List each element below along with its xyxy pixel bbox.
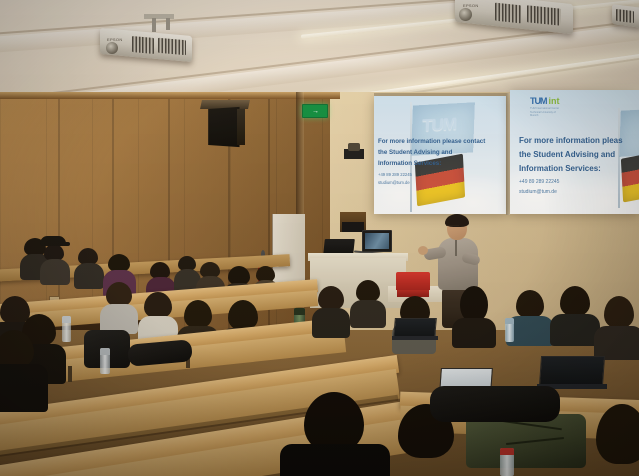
slide-line-3: Information Services: [519, 164, 623, 173]
projection-screen-right: TUM int TUM International Center Technic… [510, 90, 639, 214]
int-logo-text: int [549, 97, 560, 106]
wall-shelf [340, 212, 366, 232]
slide-phone: +49 89 289 22245 [519, 179, 623, 185]
lectern-monitor [362, 230, 392, 252]
screen-frame-left [374, 93, 506, 96]
slide-contact-text-left: For more information please contact the … [378, 138, 485, 185]
slide-email: studium@tum.de [378, 180, 485, 185]
water-bottle [505, 318, 514, 342]
slide-line-3: Information Services: [378, 160, 485, 167]
wall-camera-icon [344, 143, 364, 159]
tum-logo-text: TUM [530, 97, 547, 106]
exit-arrow-icon: → [312, 108, 318, 115]
water-bottle [62, 316, 71, 342]
wall-top-trim [0, 92, 340, 99]
tum-flag-mark: TUM [422, 115, 456, 134]
lecture-hall-photo: EPSON EPSON → [0, 0, 639, 476]
ceiling-projector-edge [612, 2, 639, 28]
slide-line-2: the Student Advising and [519, 150, 623, 159]
wall-loudspeaker [205, 100, 245, 146]
water-bottle [100, 348, 110, 374]
black-bag [430, 386, 560, 422]
tum-int-logo: TUM int TUM International Center Technic… [530, 97, 560, 106]
slide-line-2: the Student Advising and [378, 149, 485, 156]
glasses-icon [446, 225, 459, 229]
tum-logo-subtitle-2: Technical University of Munich [530, 112, 560, 118]
ceiling-projector-right: EPSON [455, 0, 575, 38]
projection-screen-left: TUM For more information please contact … [374, 96, 506, 214]
water-bottle [500, 448, 514, 476]
slide-email: studium@tum.de [519, 189, 623, 195]
audience-laptop[interactable] [394, 318, 438, 340]
slide-line-1: For more information pleas [519, 136, 623, 145]
audience-laptop[interactable] [540, 356, 606, 388]
slide-phone: +49 89 289 22245 [378, 172, 485, 177]
german-flag-graphic-right [621, 153, 639, 202]
ceiling-projector-left: EPSON [100, 18, 200, 62]
projector-brand-label: EPSON [107, 37, 123, 42]
slide-contact-text-right: For more information pleas the Student A… [519, 136, 623, 195]
emergency-exit-sign: → [302, 104, 328, 118]
slide-line-1: For more information please contact [378, 138, 485, 145]
bench-leg [68, 366, 72, 382]
projector-brand-label: EPSON [463, 3, 479, 8]
